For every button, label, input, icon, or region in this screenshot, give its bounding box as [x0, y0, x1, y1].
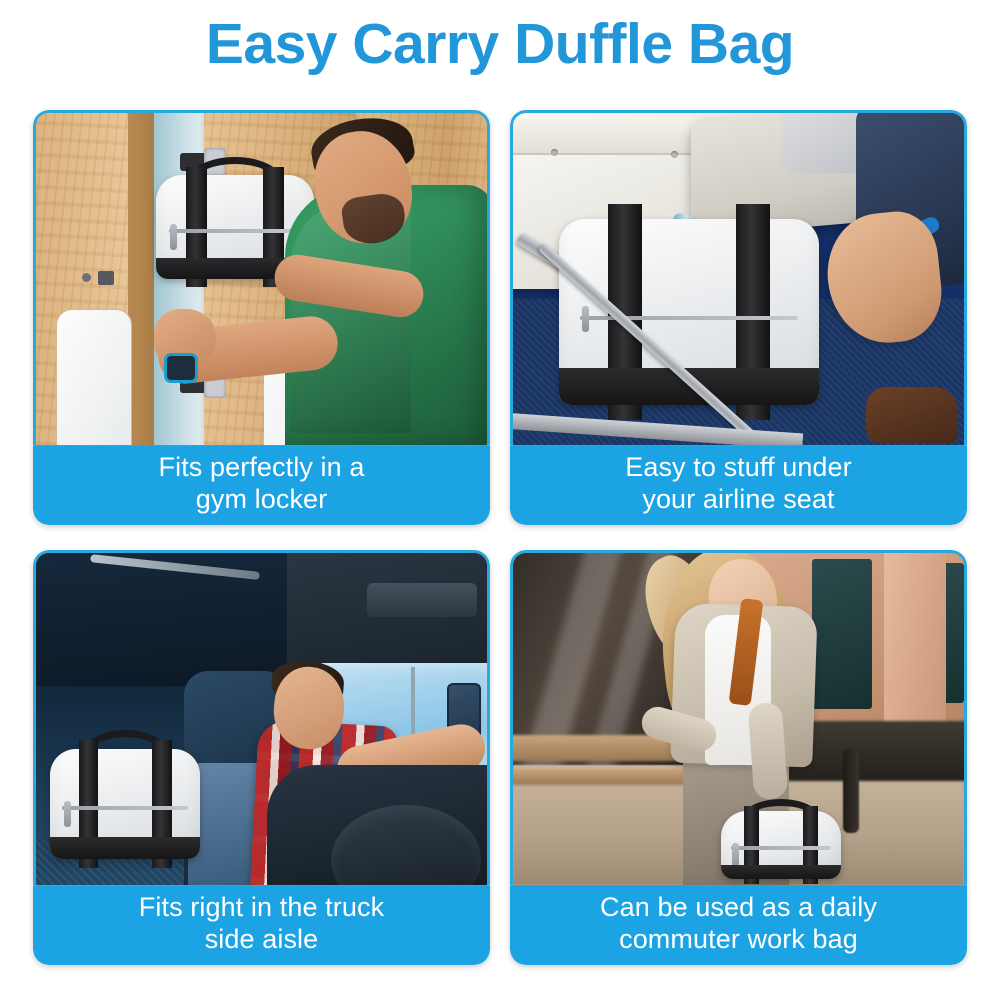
- bag-zipper-pull: [64, 801, 71, 827]
- caption-gym-locker: Fits perfectly in a gym locker: [33, 446, 490, 525]
- feature-card-commuter-bag[interactable]: Can be used as a daily commuter work bag: [510, 550, 967, 965]
- feature-card-truck-aisle[interactable]: Fits right in the truck side aisle: [33, 550, 490, 965]
- person-shoe: [866, 387, 958, 443]
- bollard-post: [843, 749, 859, 833]
- bag-base: [721, 865, 841, 879]
- duffle-bag-product: [721, 811, 841, 879]
- caption-truck-aisle: Fits right in the truck side aisle: [33, 886, 490, 965]
- street-pole: [411, 667, 415, 739]
- lock-icon: [98, 271, 114, 285]
- caption-line-1: Fits perfectly in a: [159, 452, 365, 484]
- bag-zipper-pull: [582, 306, 589, 332]
- caption-line-2: gym locker: [159, 484, 365, 516]
- wristwatch: [164, 353, 198, 383]
- photo-airline-seat: [510, 110, 967, 448]
- feature-card-airline-seat[interactable]: Easy to stuff under your airline seat: [510, 110, 967, 525]
- duffle-bag-product: [50, 749, 200, 859]
- caption-commuter-bag: Can be used as a daily commuter work bag: [510, 886, 967, 965]
- lock-keyhole-icon: [82, 273, 91, 282]
- caption-line-1: Can be used as a daily: [600, 892, 877, 924]
- bag-zipper: [731, 846, 832, 850]
- console-panel: [367, 583, 477, 617]
- locker-white-panel: [56, 309, 132, 445]
- caption-line-2: your airline seat: [625, 484, 852, 516]
- photo-street-commuter: [510, 550, 967, 888]
- caption-line-2: commuter work bag: [600, 924, 877, 956]
- page-title: Easy Carry Duffle Bag: [0, 16, 1000, 73]
- bag-zipper-pull: [170, 224, 177, 250]
- caption-line-2: side aisle: [139, 924, 384, 956]
- photo-truck-cab: [33, 550, 490, 888]
- building-window: [812, 559, 872, 709]
- bag-zipper: [169, 229, 302, 233]
- locker-divider: [128, 113, 156, 445]
- seat-pocket: [513, 119, 715, 155]
- caption-airline-seat: Easy to stuff under your airline seat: [510, 446, 967, 525]
- photo-gym-locker: [33, 110, 490, 448]
- caption-line-1: Easy to stuff under: [625, 452, 852, 484]
- screw-icon: [671, 151, 678, 158]
- caption-line-1: Fits right in the truck: [139, 892, 384, 924]
- bag-zipper: [62, 806, 188, 810]
- woman-arm-right: [748, 702, 789, 800]
- feature-card-gym-locker[interactable]: Fits perfectly in a gym locker: [33, 110, 490, 525]
- product-infographic: Easy Carry Duffle Bag: [0, 0, 1000, 1000]
- feature-card-grid: Fits perfectly in a gym locker: [33, 110, 967, 965]
- screw-icon: [551, 149, 558, 156]
- bench: [513, 769, 693, 785]
- bag-base: [50, 837, 200, 859]
